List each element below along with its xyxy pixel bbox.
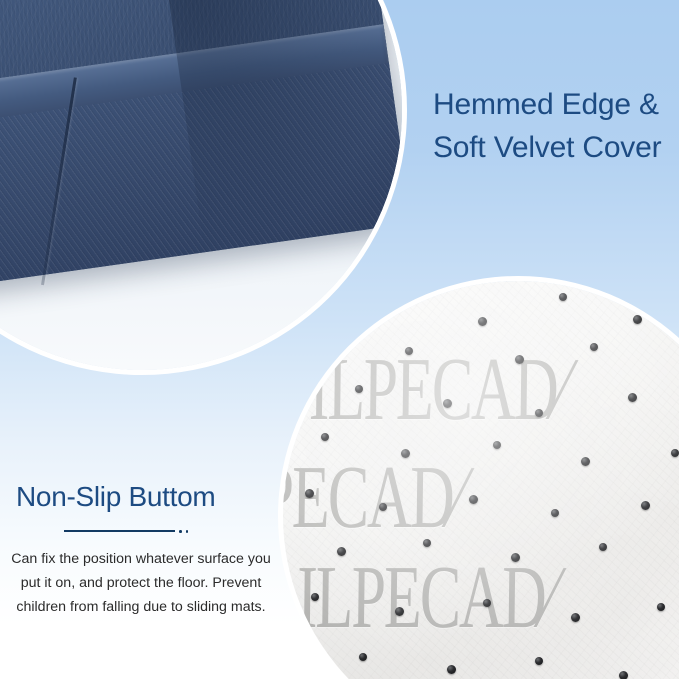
mat-photo: ILPECAD⁄ ILPECAD⁄ ILPECAD⁄ [283,281,679,679]
divider-dot [186,530,189,533]
feature-divider [64,530,188,533]
feature-block: Non-Slip Buttom Can fix the position wha… [8,480,274,619]
headline-line-1: Hemmed Edge & [433,83,679,126]
divider-dot [179,530,182,533]
headline: Hemmed Edge & Soft Velvet Cover [433,83,679,169]
headline-line-2: Soft Velvet Cover [433,126,679,169]
mat-shading [283,281,679,679]
divider-line [64,530,175,532]
product-feature-image: ILPECAD⁄ ILPECAD⁄ ILPECAD⁄ Hemmed Edge &… [0,0,679,679]
feature-description: Can fix the position whatever surface yo… [8,547,274,619]
corner-shadow [164,0,402,262]
photo-circle-nonslip-mat: ILPECAD⁄ ILPECAD⁄ ILPECAD⁄ [283,281,679,679]
feature-title: Non-Slip Buttom [8,480,274,514]
